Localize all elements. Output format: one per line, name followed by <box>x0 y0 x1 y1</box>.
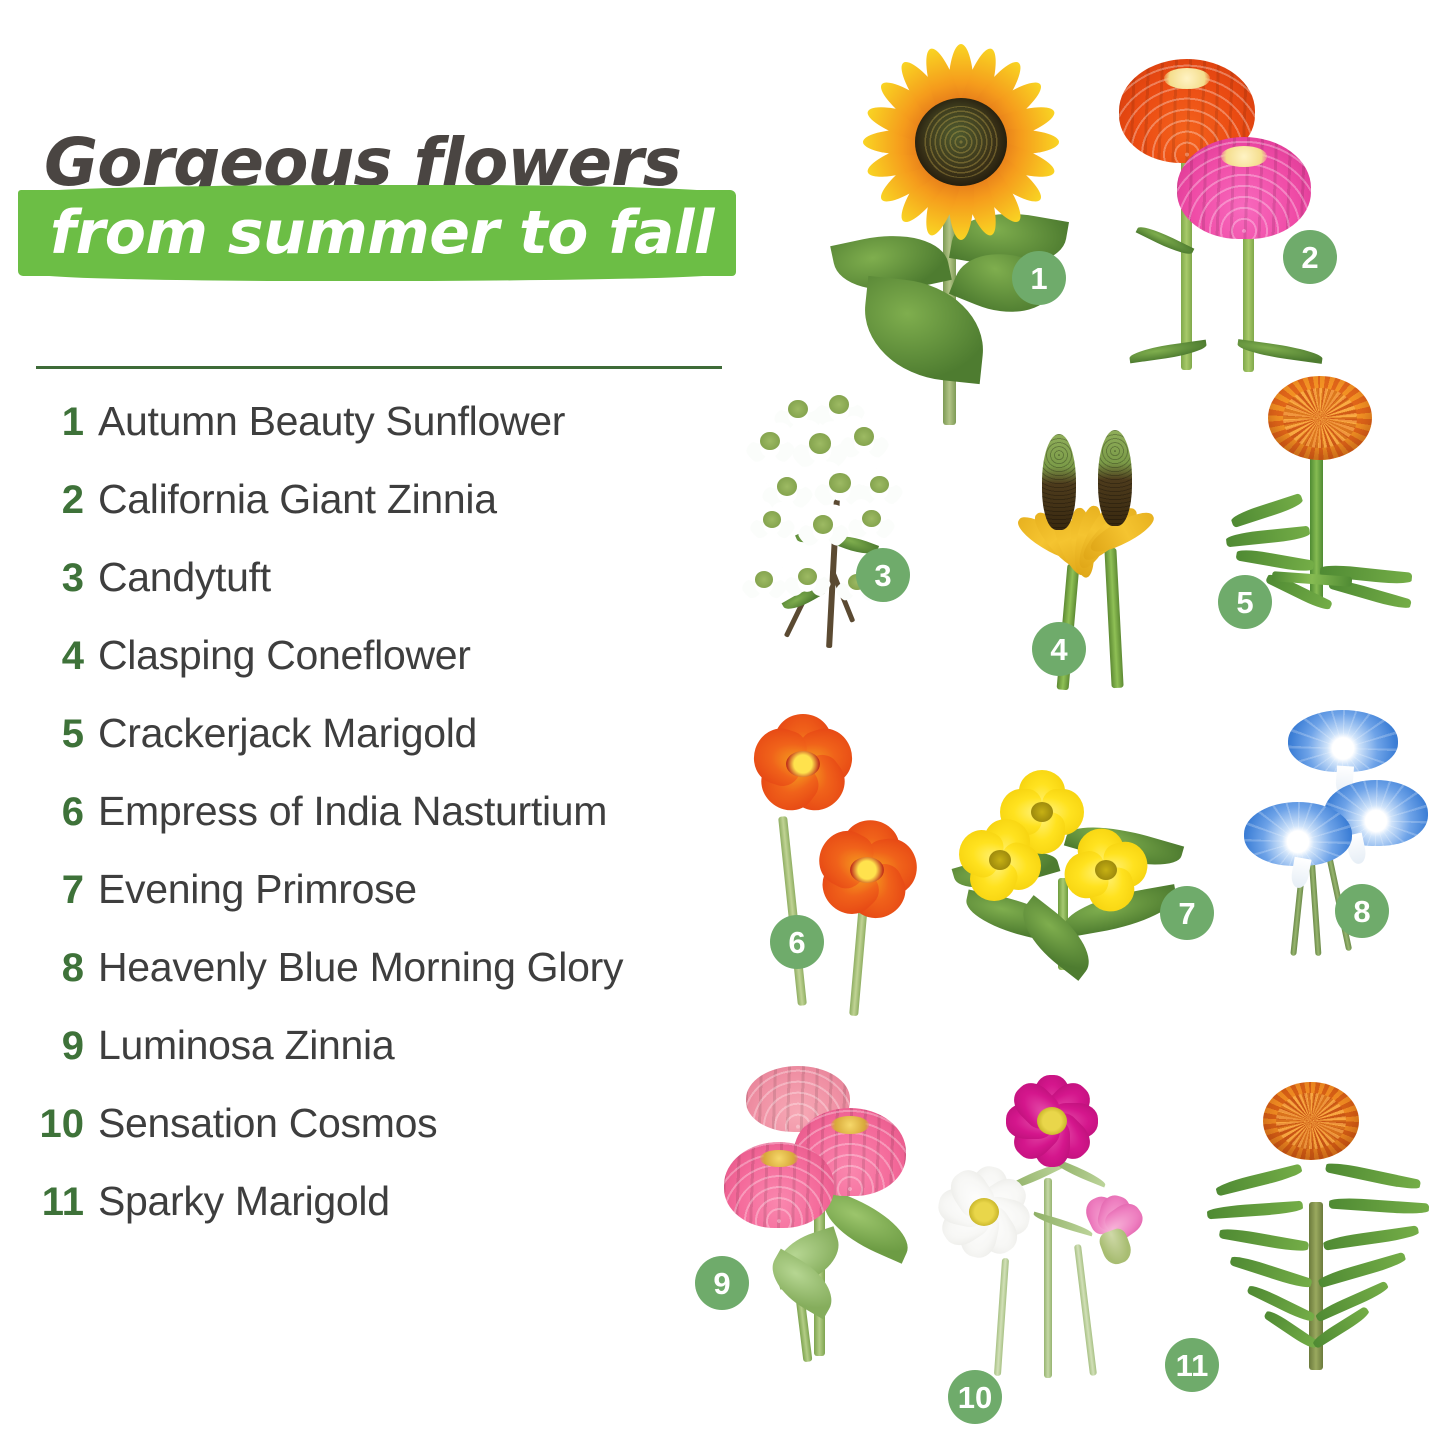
list-item-number: 7 <box>36 868 98 913</box>
coneflower-cone-right <box>1098 430 1132 526</box>
list-item-number: 6 <box>36 790 98 835</box>
list-item-label: Crackerjack Marigold <box>98 710 477 757</box>
photo-badge-10: 10 <box>948 1370 1002 1424</box>
list-item-number: 1 <box>36 400 98 445</box>
primrose-bloom-right <box>1062 830 1150 910</box>
list-item-label: Clasping Coneflower <box>98 632 471 679</box>
photo-badge-2: 2 <box>1283 230 1337 284</box>
list-item-label: Evening Primrose <box>98 866 417 913</box>
list-item-label: Empress of India Nasturtium <box>98 788 607 835</box>
nasturtium-bloom-upper <box>740 714 866 814</box>
flower-photo-collage: 1 2 3 <box>660 0 1445 1445</box>
photo-badge-6: 6 <box>770 915 824 969</box>
marigold-bloom <box>1263 1082 1359 1160</box>
text-column: Gorgeous flowers from summer to fall 1 A… <box>0 0 760 1445</box>
list-item-label: Autumn Beauty Sunflower <box>98 398 565 445</box>
morning-glory-bloom-top <box>1288 710 1398 772</box>
zinnia-bloom-left <box>724 1142 834 1228</box>
title-divider <box>36 366 722 369</box>
photo-evening-primrose <box>950 768 1200 978</box>
list-item-number: 3 <box>36 556 98 601</box>
photo-badge-3: 3 <box>856 548 910 602</box>
list-item-label: Luminosa Zinnia <box>98 1022 394 1069</box>
photo-badge-7: 7 <box>1160 886 1214 940</box>
list-item-number: 9 <box>36 1024 98 1069</box>
list-item: 11 Sparky Marigold <box>36 1178 736 1256</box>
photo-badge-5: 5 <box>1218 575 1272 629</box>
photo-california-giant-zinnia <box>1115 45 1365 365</box>
cosmos-bloom-white <box>936 1166 1032 1258</box>
list-item: 6 Empress of India Nasturtium <box>36 788 736 866</box>
list-item: 8 Heavenly Blue Morning Glory <box>36 944 736 1022</box>
photo-badge-11: 11 <box>1165 1338 1219 1392</box>
list-item: 2 California Giant Zinnia <box>36 476 736 554</box>
list-item: 7 Evening Primrose <box>36 866 736 944</box>
list-item: 9 Luminosa Zinnia <box>36 1022 736 1100</box>
cosmos-bud-pink <box>1072 1196 1148 1266</box>
list-item-number: 11 <box>36 1180 98 1225</box>
marigold-bloom <box>1268 376 1372 460</box>
photo-badge-9: 9 <box>695 1256 749 1310</box>
nasturtium-bloom-lower <box>804 820 930 920</box>
list-item: 10 Sensation Cosmos <box>36 1100 736 1178</box>
list-item: 4 Clasping Coneflower <box>36 632 736 710</box>
photo-sensation-cosmos <box>940 1068 1170 1398</box>
title-block: Gorgeous flowers from summer to fall <box>44 130 744 276</box>
photo-badge-8: 8 <box>1335 884 1389 938</box>
list-item-number: 2 <box>36 478 98 523</box>
list-item: 5 Crackerjack Marigold <box>36 710 736 788</box>
photo-luminosa-zinnia <box>710 1066 950 1366</box>
list-item-label: Sparky Marigold <box>98 1178 390 1225</box>
list-item-label: Heavenly Blue Morning Glory <box>98 944 623 991</box>
list-item-number: 5 <box>36 712 98 757</box>
list-item-label: Candytuft <box>98 554 271 601</box>
list-item-label: California Giant Zinnia <box>98 476 497 523</box>
photo-heavenly-blue-morning-glory <box>1240 706 1430 966</box>
title-banner: from summer to fall <box>44 190 736 276</box>
primrose-bloom-left <box>956 820 1044 900</box>
photo-badge-4: 4 <box>1032 622 1086 676</box>
list-item-number: 8 <box>36 946 98 991</box>
list-item-number: 10 <box>36 1102 98 1147</box>
flower-list: 1 Autumn Beauty Sunflower 2 California G… <box>36 398 736 1256</box>
cosmos-bloom-magenta <box>1000 1072 1104 1170</box>
photo-autumn-beauty-sunflower <box>815 20 1075 430</box>
sunflower-head <box>855 42 1067 242</box>
zinnia-pink-bloom <box>1177 137 1311 239</box>
photo-empress-of-india-nasturtium <box>740 708 970 1018</box>
list-item: 3 Candytuft <box>36 554 736 632</box>
photo-candytuft <box>738 378 938 648</box>
list-item: 1 Autumn Beauty Sunflower <box>36 398 736 476</box>
list-item-number: 4 <box>36 634 98 679</box>
list-item-label: Sensation Cosmos <box>98 1100 437 1147</box>
photo-sparky-marigold <box>1205 1082 1435 1392</box>
sunflower-center-disk <box>915 98 1007 186</box>
coneflower-cone-left <box>1042 434 1076 530</box>
photo-badge-1: 1 <box>1012 251 1066 305</box>
page-title-line2: from summer to fall <box>44 190 736 276</box>
